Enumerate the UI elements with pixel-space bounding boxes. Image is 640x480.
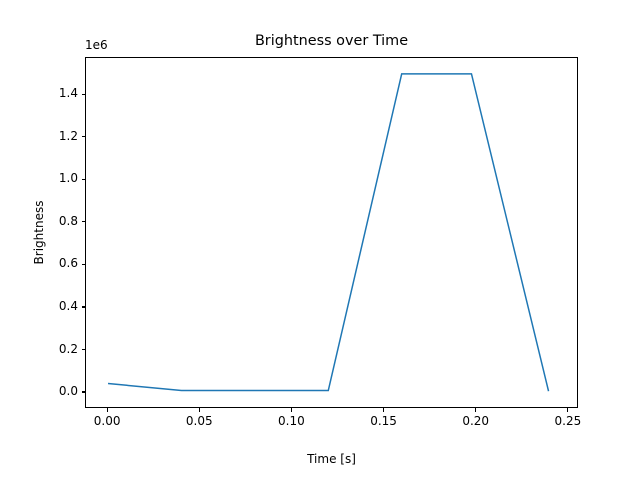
x-tick-label: 0.05: [159, 414, 239, 428]
y-tick-label: 0.0: [18, 384, 78, 398]
brightness-line: [108, 74, 549, 391]
y-tick-label: 0.2: [18, 342, 78, 356]
line-series-svg: [86, 58, 577, 407]
x-tick-label: 0.20: [436, 414, 516, 428]
x-tick-label: 0.10: [251, 414, 331, 428]
y-tick-mark: [82, 221, 86, 222]
y-tick-label: 0.8: [18, 214, 78, 228]
y-tick-label: 1.4: [18, 86, 78, 100]
y-tick-mark: [82, 391, 86, 392]
x-tick-mark: [199, 408, 200, 412]
y-tick-mark: [82, 306, 86, 307]
x-tick-label: 0.25: [528, 414, 608, 428]
y-axis-label: Brightness: [32, 57, 46, 408]
y-tick-label: 0.6: [18, 256, 78, 270]
plot-area: [85, 57, 578, 408]
y-tick-label: 1.0: [18, 171, 78, 185]
y-tick-mark: [82, 179, 86, 180]
page-title: Brightness over Time: [85, 33, 578, 50]
y-tick-mark: [82, 136, 86, 137]
matplotlib-figure: Brightness over Time 1e6 0.000.050.100.1…: [0, 0, 640, 480]
y-tick-mark: [82, 349, 86, 350]
x-tick-mark: [475, 408, 476, 412]
x-tick-mark: [567, 408, 568, 412]
x-tick-mark: [291, 408, 292, 412]
y-tick-label: 0.4: [18, 299, 78, 313]
y-tick-label: 1.2: [18, 129, 78, 143]
y-axis-ticks: 0.00.20.40.60.81.01.21.4: [85, 0, 115, 480]
y-tick-mark: [82, 94, 86, 95]
x-tick-label: 0.15: [344, 414, 424, 428]
x-tick-mark: [383, 408, 384, 412]
x-axis-label: Time [s]: [85, 452, 578, 466]
y-tick-mark: [82, 264, 86, 265]
